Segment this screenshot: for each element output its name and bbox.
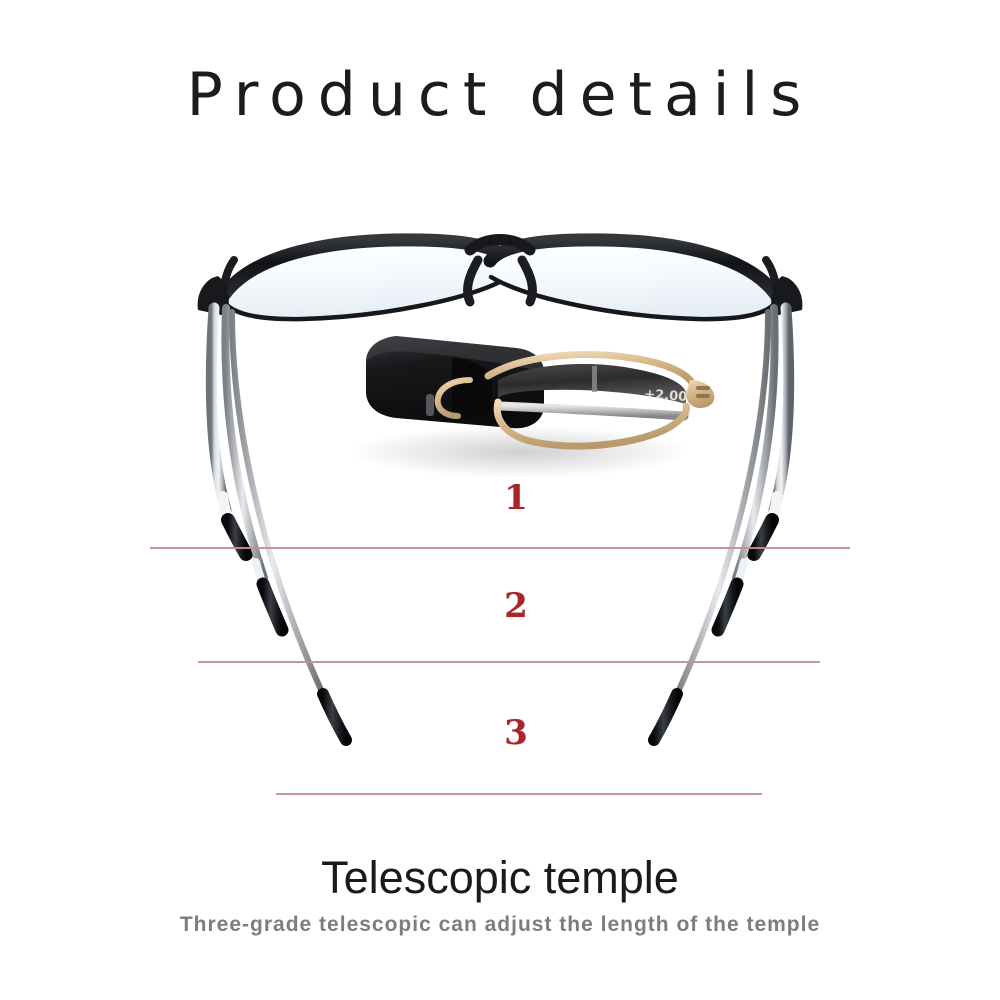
measure-line-grade-2 — [198, 661, 820, 663]
caption-subheading: Three-grade telescopic can adjust the le… — [0, 912, 1000, 937]
grade-number-3: 3 — [486, 716, 546, 750]
caption-heading: Telescopic temple — [0, 852, 1000, 904]
measure-line-grade-3 — [276, 793, 762, 795]
lens-power-marking: +2.00 — [644, 387, 688, 405]
left-temple-group — [211, 308, 346, 740]
grade-number-2: 2 — [486, 589, 546, 623]
measure-line-grade-1 — [150, 547, 850, 549]
case-shadow — [350, 426, 690, 478]
main-glasses-frame — [198, 240, 803, 320]
left-temple-tip-3 — [323, 694, 346, 740]
folded-glasses-lens-divider — [592, 366, 597, 392]
folded-glasses-hinge-detail-2 — [696, 394, 710, 398]
right-temple-tip-3 — [654, 694, 677, 740]
product-details-page: Product details — [0, 0, 1000, 1000]
folded-glasses-hinge-detail-1 — [696, 386, 710, 390]
glasses-case-clasp — [426, 394, 434, 416]
page-title: Product details — [0, 62, 1000, 128]
grade-number-1: 1 — [486, 481, 546, 515]
